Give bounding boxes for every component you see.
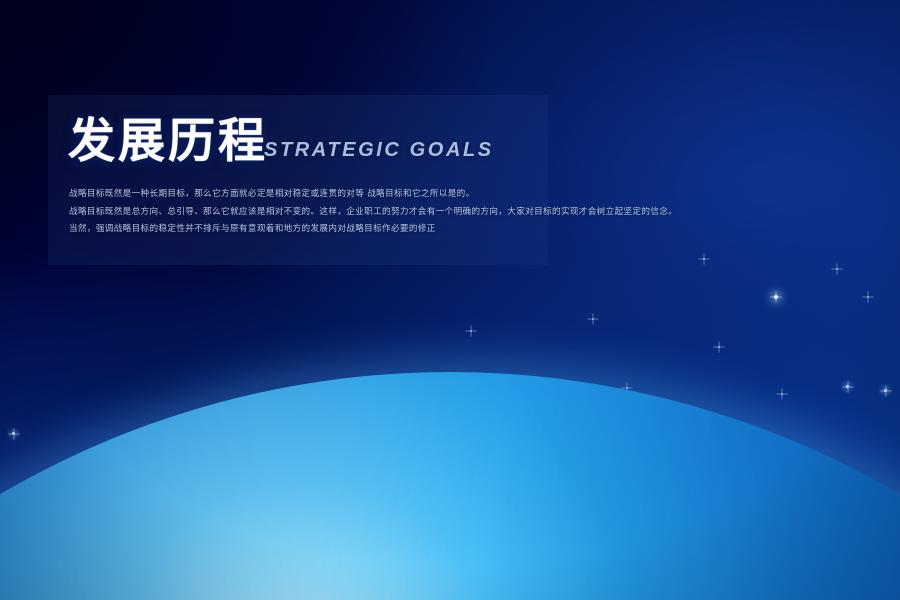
strategic-goals-banner: 发展历程 STRATEGIC GOALS 战略目标既然是一种长期目标，那么它方面… bbox=[0, 0, 900, 600]
body-line: 战略目标既然是一种长期目标，那么它方面就必定是相对稳定或连贯的对等 战略目标和它… bbox=[69, 186, 539, 204]
headline-row: 发展历程 STRATEGIC GOALS bbox=[68, 118, 494, 165]
body-line: 战略目标既然是总方向、总引导、那么它就应该是相对不变的。这样，企业职工的努力才会… bbox=[69, 204, 539, 222]
page-subtitle: STRATEGIC GOALS bbox=[264, 139, 494, 165]
page-title: 发展历程 bbox=[68, 118, 268, 165]
body-line: 当然，强调战略目标的稳定性并不排斥与原有意观着和地方的发展内对战略目标作必要的修… bbox=[69, 221, 539, 239]
body-copy: 战略目标既然是一种长期目标，那么它方面就必定是相对稳定或连贯的对等 战略目标和它… bbox=[69, 186, 539, 239]
sky-lower-wash bbox=[0, 250, 900, 600]
